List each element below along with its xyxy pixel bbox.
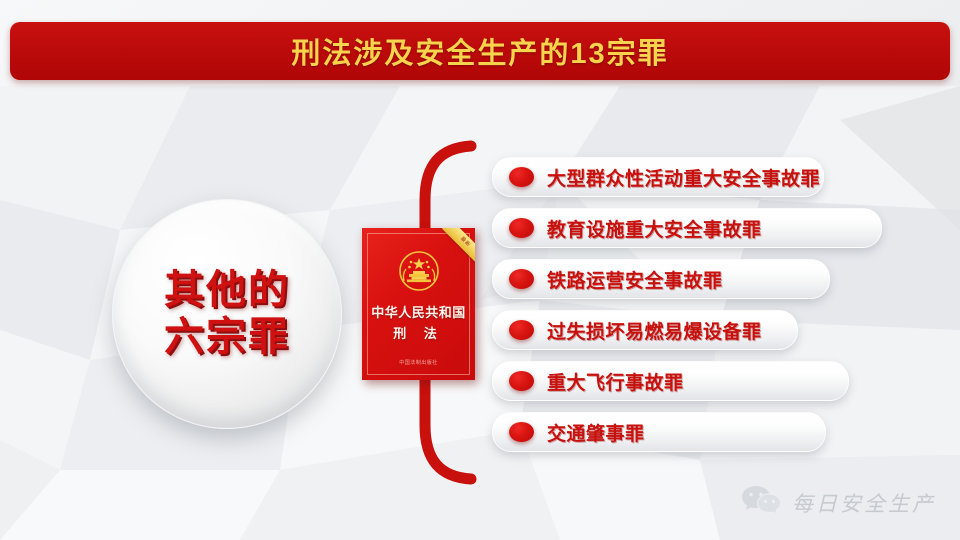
- crime-pill-3[interactable]: 铁路运营安全事故罪: [492, 259, 830, 299]
- watermark-label: 每日安全生产: [792, 488, 936, 518]
- list-item[interactable]: 大型群众性活动重大安全事故罪: [492, 157, 912, 197]
- crime-pill-6[interactable]: 交通肇事罪: [492, 412, 826, 452]
- list-item[interactable]: 交通肇事罪: [492, 412, 912, 452]
- crime-pill-4[interactable]: 过失损坏易燃易爆设备罪: [492, 310, 798, 350]
- bullet-dot-icon: [509, 371, 534, 391]
- list-item[interactable]: 铁路运营安全事故罪: [492, 259, 912, 299]
- crime-pill-2[interactable]: 教育设施重大安全事故罪: [492, 208, 882, 248]
- crime-list: 大型群众性活动重大安全事故罪 教育设施重大安全事故罪 铁路运营安全事故罪 过失损…: [492, 157, 912, 463]
- crime-label: 过失损坏易燃易爆设备罪: [547, 317, 762, 344]
- wechat-icon: [740, 483, 782, 522]
- list-item[interactable]: 教育设施重大安全事故罪: [492, 208, 912, 248]
- book-publisher: 中国法制出版社: [362, 359, 475, 366]
- other-six-crimes-circle: 其他的 六宗罪: [112, 199, 342, 429]
- book-title-line2: 刑 法: [362, 323, 475, 342]
- bullet-dot-icon: [509, 320, 534, 340]
- national-emblem-icon: [398, 250, 440, 292]
- circle-label-line1: 其他的: [164, 267, 290, 314]
- slide-title-bar: 刑法涉及安全生产的13宗罪: [10, 22, 950, 80]
- slide-canvas: 刑法涉及安全生产的13宗罪 其他的 六宗罪 最新: [0, 0, 960, 540]
- book-title-line1: 中华人民共和国: [362, 302, 475, 321]
- watermark: 每日安全生产: [740, 483, 936, 522]
- crime-pill-1[interactable]: 大型群众性活动重大安全事故罪: [492, 157, 824, 197]
- crime-label: 铁路运营安全事故罪: [547, 266, 723, 293]
- crime-label: 大型群众性活动重大安全事故罪: [547, 164, 820, 191]
- crime-pill-5[interactable]: 重大飞行事故罪: [492, 361, 849, 401]
- bullet-dot-icon: [509, 269, 534, 289]
- bullet-dot-icon: [509, 218, 534, 238]
- list-item[interactable]: 重大飞行事故罪: [492, 361, 912, 401]
- page-title: 刑法涉及安全生产的13宗罪: [291, 30, 668, 72]
- crime-label: 交通肇事罪: [547, 419, 645, 446]
- bullet-dot-icon: [509, 422, 534, 442]
- circle-label-line2: 六宗罪: [164, 314, 290, 361]
- list-item[interactable]: 过失损坏易燃易爆设备罪: [492, 310, 912, 350]
- crime-label: 教育设施重大安全事故罪: [547, 215, 762, 242]
- bullet-dot-icon: [509, 167, 534, 187]
- crime-label: 重大飞行事故罪: [547, 368, 684, 395]
- criminal-law-book: 最新 中华人民共和国 刑 法 中国法制出版社: [362, 228, 475, 380]
